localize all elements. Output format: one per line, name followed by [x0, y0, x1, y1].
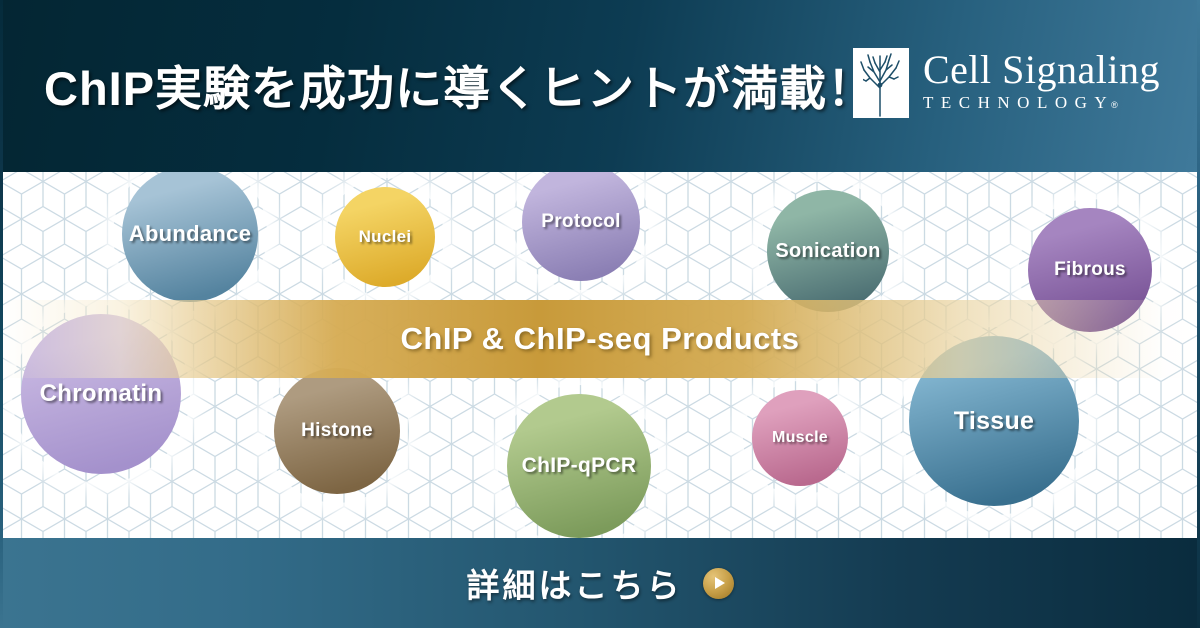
banner-header: ChIP実験を成功に導くヒントが満載！ [0, 0, 1200, 172]
logo-company-name: Cell Signaling [923, 50, 1160, 91]
cta-button[interactable]: 詳細はこちら [467, 559, 734, 607]
bubble-chip-qpcr[interactable]: ChIP-qPCR [507, 394, 651, 538]
bubble-abundance[interactable]: Abundance [122, 172, 258, 302]
bubble-protocol[interactable]: Protocol [522, 172, 640, 281]
logo-company-subtitle: TECHNOLOGY [923, 93, 1114, 113]
bubble-label: Chromatin [40, 380, 163, 408]
banner-footer[interactable]: 詳細はこちら [0, 538, 1200, 628]
promo-banner: ChIP実験を成功に導くヒントが満載！ [0, 0, 1200, 628]
bubble-nuclei[interactable]: Nuclei [335, 187, 435, 287]
bubble-label: Nuclei [359, 227, 412, 247]
product-banner-label: ChIP & ChIP-seq Products [401, 321, 800, 357]
banner-main: AbundanceNucleiProtocolSonicationFibrous… [0, 172, 1200, 538]
bubble-muscle[interactable]: Muscle [752, 390, 848, 486]
bubble-label: Protocol [541, 211, 620, 233]
cta-label: 詳細はこちら [467, 559, 683, 607]
bubble-label: ChIP-qPCR [522, 454, 637, 478]
bubble-sonication[interactable]: Sonication [767, 190, 889, 312]
bubble-label: Muscle [772, 429, 828, 447]
registered-mark: ® [1111, 100, 1118, 110]
logo-text-block: Cell Signaling TECHNOLOGY ® [923, 48, 1160, 113]
bubble-label: Fibrous [1054, 259, 1126, 281]
bubble-histone[interactable]: Histone [274, 368, 400, 494]
bubble-label: Tissue [954, 407, 1035, 436]
product-banner: ChIP & ChIP-seq Products [0, 300, 1200, 378]
page-title: ChIP実験を成功に導くヒントが満載！ [44, 50, 875, 119]
bubble-label: Histone [301, 420, 373, 442]
tree-icon [853, 48, 909, 118]
bubble-label: Abundance [129, 221, 252, 247]
cst-logo: Cell Signaling TECHNOLOGY ® [853, 48, 1160, 118]
play-arrow-icon[interactable] [703, 568, 734, 599]
bubble-label: Sonication [775, 240, 880, 263]
left-edge-trim [0, 0, 3, 628]
